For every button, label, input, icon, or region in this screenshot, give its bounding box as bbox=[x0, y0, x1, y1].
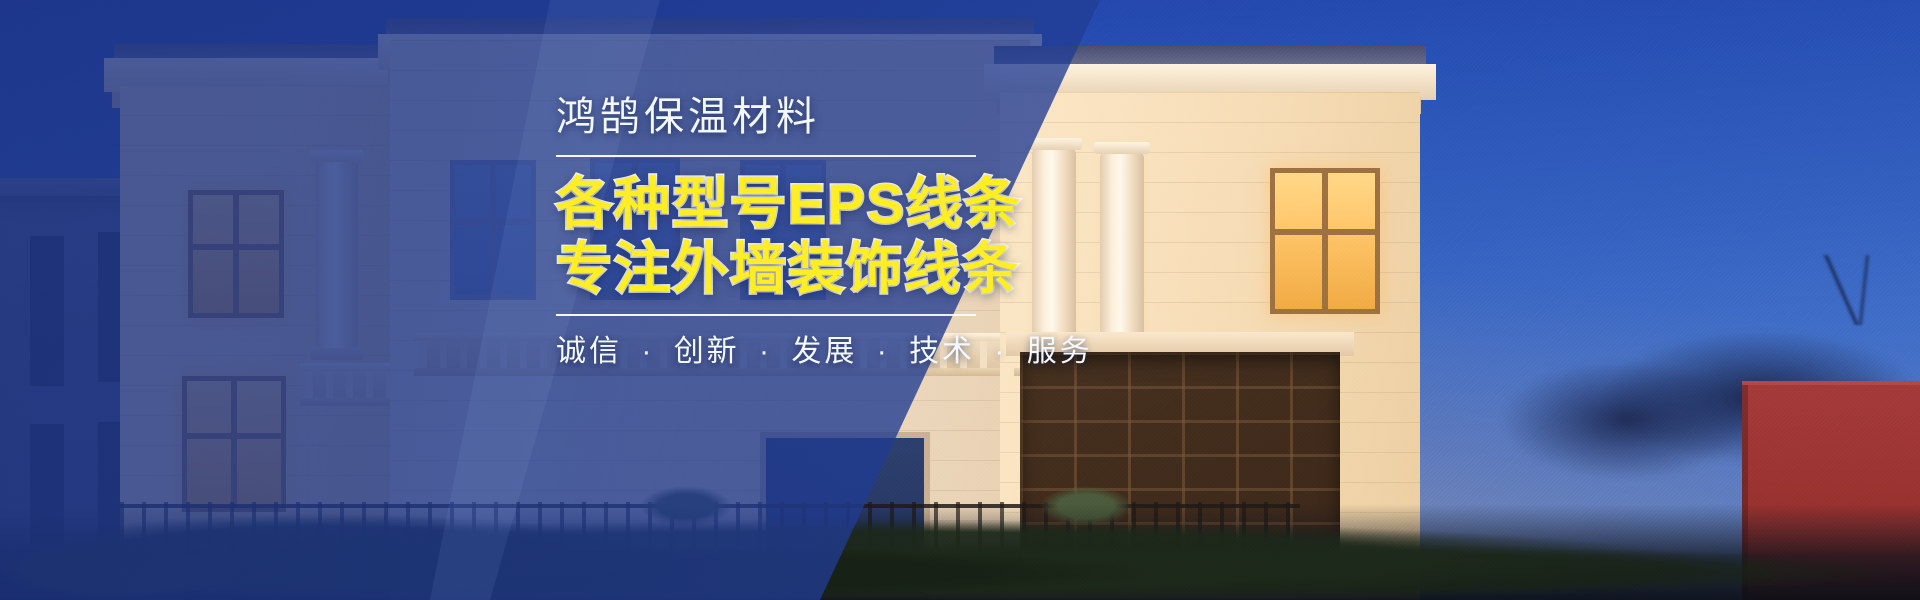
window-glow bbox=[1270, 168, 1380, 314]
brand-name: 鸿鹄保温材料 bbox=[556, 96, 1256, 138]
tagline-item-0: 诚信 bbox=[556, 335, 622, 368]
window-mullion bbox=[490, 160, 496, 300]
wing-window bbox=[30, 236, 64, 386]
window-mullion bbox=[1270, 229, 1380, 235]
tagline-separator: · bbox=[751, 335, 780, 368]
hero-banner: 鸿鹄保温材料 各种型号EPS线条 专注外墙装饰线条 诚信 · 创新 · 发展 ·… bbox=[0, 0, 1920, 600]
foreground-hedges bbox=[0, 504, 1920, 600]
window-glow bbox=[182, 376, 286, 512]
tagline-item-2: 发展 bbox=[791, 335, 857, 368]
window-mullion bbox=[233, 190, 239, 318]
window-mullion bbox=[182, 433, 286, 439]
tagline-separator: · bbox=[986, 335, 1015, 368]
tagline-separator: · bbox=[869, 335, 898, 368]
divider-rule-top bbox=[556, 155, 976, 157]
banner-copy: 鸿鹄保温材料 各种型号EPS线条 专注外墙装饰线条 诚信 · 创新 · 发展 ·… bbox=[556, 96, 1256, 370]
tagline-item-1: 创新 bbox=[674, 335, 740, 368]
window-mullion bbox=[188, 244, 284, 250]
tagline-item-3: 技术 bbox=[909, 335, 975, 368]
right-tower-roof bbox=[994, 46, 1426, 66]
tree-branch bbox=[1770, 255, 1920, 325]
headline-line-1: 各种型号EPS线条 bbox=[556, 173, 1256, 236]
headline-line-2: 专注外墙装饰线条 bbox=[556, 238, 1256, 301]
divider-rule-bottom bbox=[556, 314, 976, 316]
window-cool bbox=[450, 160, 536, 300]
window-mullion bbox=[1322, 168, 1328, 314]
tagline-item-4: 服务 bbox=[1027, 335, 1093, 368]
window-glow bbox=[188, 190, 284, 318]
tagline-separator: · bbox=[633, 335, 662, 368]
window-mullion bbox=[231, 376, 237, 512]
window-mullion bbox=[450, 219, 536, 225]
tagline: 诚信 · 创新 · 发展 · 技术 · 服务 bbox=[556, 334, 1256, 370]
column bbox=[316, 160, 358, 350]
